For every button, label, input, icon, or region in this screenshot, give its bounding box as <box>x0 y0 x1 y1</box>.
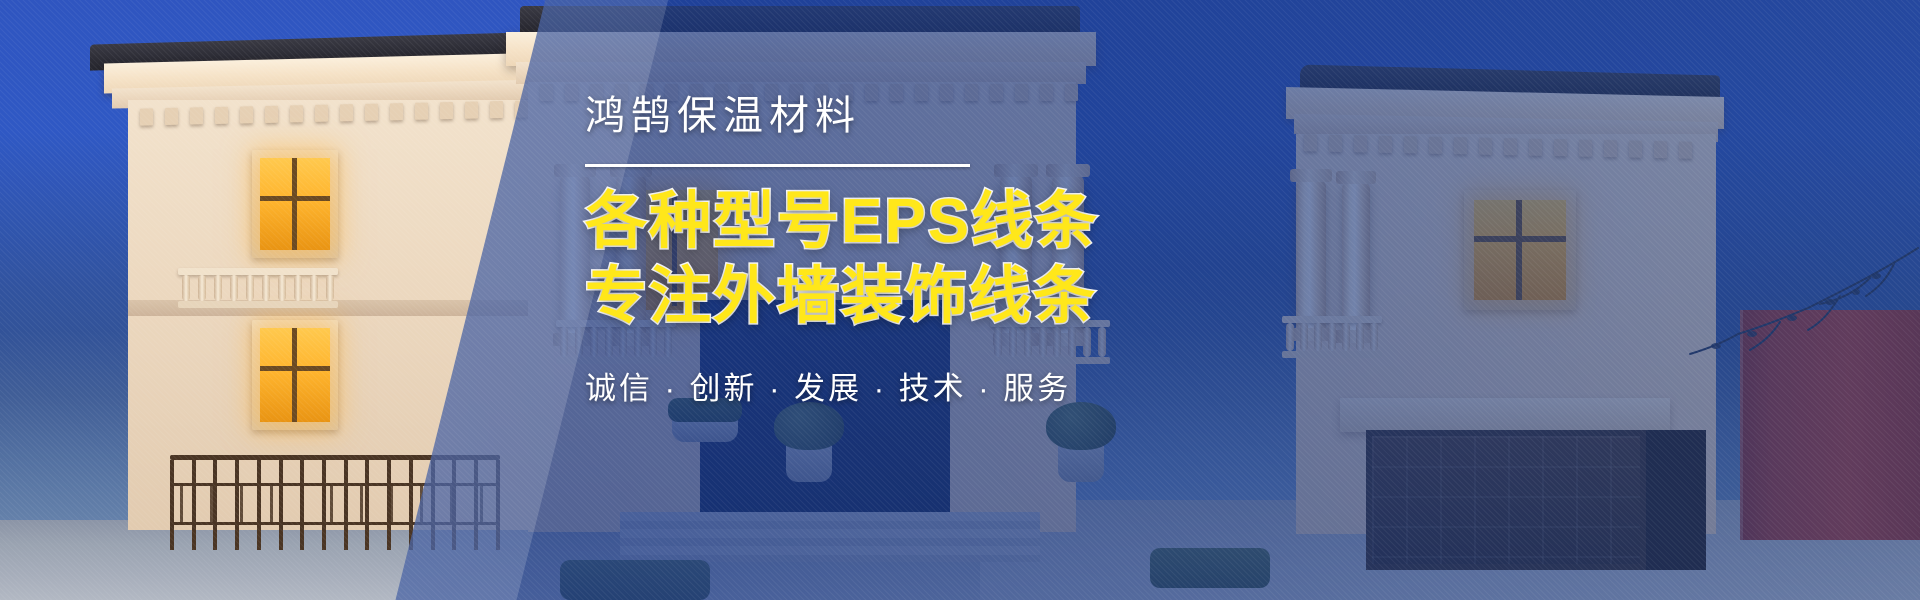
window-transom <box>260 196 330 201</box>
divider-rule <box>585 164 970 167</box>
tagline: 诚信 · 创新 · 发展 · 技术 · 服务 <box>585 363 1585 408</box>
hero-banner: 鸿鹄保温材料 各种型号EPS线条 专注外墙装饰线条 诚信 · 创新 · 发展 ·… <box>0 0 1920 600</box>
company-name: 鸿鹄保温材料 <box>585 96 1585 136</box>
window-mullion <box>292 328 297 422</box>
window-mullion <box>292 158 297 250</box>
headline-line-1: 各种型号EPS线条 <box>585 185 1585 258</box>
headline-line-2: 专注外墙装饰线条 <box>585 260 1585 333</box>
balcony-balustrade <box>178 268 338 308</box>
banner-copy: 鸿鹄保温材料 各种型号EPS线条 专注外墙装饰线条 诚信 · 创新 · 发展 ·… <box>585 96 1585 408</box>
window-transom <box>260 366 330 371</box>
